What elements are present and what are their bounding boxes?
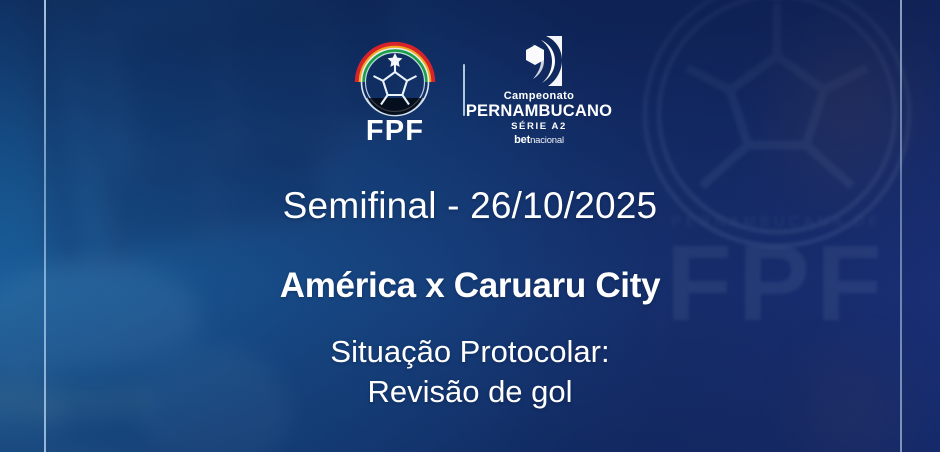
championship-logo: Campeonato PERNAMBUCANO SÉRIE A2 betnaci… (487, 34, 591, 146)
stage-and-date-heading: Semifinal - 26/10/2025 (0, 185, 940, 227)
teams-heading: América x Caruaru City (0, 266, 940, 306)
sponsor-bet-text: bet (514, 134, 530, 146)
championship-line-campeonato: Campeonato (466, 91, 612, 102)
card-content: FPF (0, 0, 940, 452)
sponsor-betnacional-logo: betnacional (466, 135, 612, 146)
match-protocol-card: uhlsport PERNAMBUCANA (0, 0, 940, 452)
championship-ball-shield-icon (510, 34, 568, 88)
championship-line-serie: SÉRIE A2 (466, 122, 612, 132)
protocol-status-block: Situação Protocolar: Revisão de gol (0, 332, 940, 411)
championship-wordmark: Campeonato PERNAMBUCANO SÉRIE A2 betnaci… (466, 91, 612, 146)
svg-text:FPF: FPF (366, 115, 424, 146)
protocol-status-label: Situação Protocolar: (0, 332, 940, 372)
logo-divider (463, 64, 465, 116)
logo-row: FPF (0, 30, 940, 150)
championship-line-pernambucano: PERNAMBUCANO (466, 103, 612, 120)
fpf-federation-logo: FPF (349, 34, 441, 146)
sponsor-nacional-text: nacional (530, 135, 564, 146)
protocol-status-value: Revisão de gol (0, 372, 940, 412)
